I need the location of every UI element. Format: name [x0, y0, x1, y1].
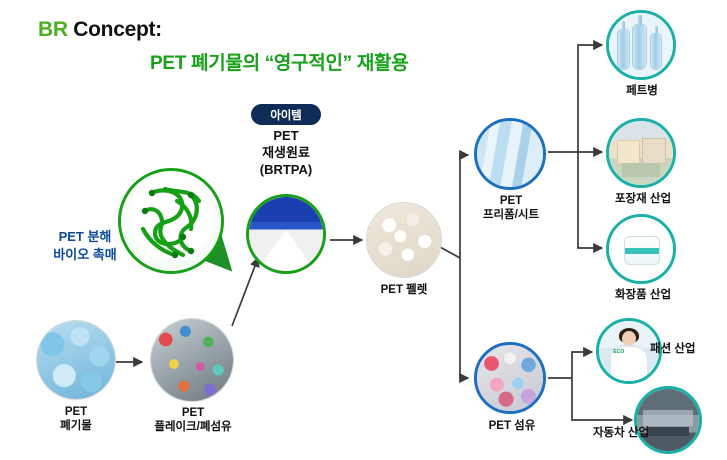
brtpa-label-line2: 재생원료 [236, 145, 336, 162]
brtpa-label-line3: (BRTPA) [236, 162, 336, 179]
pet-flake-label: PET 플레이크/폐섬유 [132, 406, 254, 435]
cosmetic-jar-icon [624, 236, 659, 265]
fashion-label: 패션 산업 [650, 342, 726, 356]
item-badge: 아이템 [251, 104, 321, 125]
brtpa-label: PET 재생원료 (BRTPA) [236, 128, 336, 179]
protein-molecule-icon [121, 171, 221, 271]
pet-preform-photo [474, 118, 546, 190]
pet-preform-label: PET 프리폼/시트 [464, 194, 558, 223]
pet-preform-label-line2: 프리폼/시트 [464, 208, 558, 222]
pet-flake-label-line1: PET [132, 406, 254, 420]
brtpa-photo [246, 194, 326, 274]
bottle-icon [651, 34, 661, 70]
automotive-label: 자동차 산업 [566, 426, 676, 440]
pet-flake-photo [150, 318, 234, 402]
packaging-label: 포장재 산업 [588, 192, 698, 206]
pet-waste-label: PET 폐기물 [26, 405, 126, 434]
pet-preform-label-line1: PET [464, 194, 558, 208]
pet-pellet-photo [366, 202, 442, 278]
pet-waste-label-line2: 폐기물 [26, 419, 126, 433]
cosmetic-photo [606, 214, 676, 284]
pet-fiber-label: PET 섬유 [470, 419, 554, 433]
pet-bottle-photo [606, 10, 676, 80]
pet-waste-label-line1: PET [26, 405, 126, 419]
brtpa-label-line1: PET [236, 128, 336, 145]
automotive-photo [634, 386, 702, 454]
bottle-icon [618, 30, 629, 70]
pet-fiber-photo [474, 342, 546, 414]
powder-pile-icon [256, 230, 315, 271]
packaging-photo [606, 118, 676, 188]
pet-waste-photo [36, 320, 116, 400]
cosmetic-label: 화장품 산업 [588, 288, 698, 302]
bottle-icon [633, 25, 646, 70]
pet-flake-label-line2: 플레이크/폐섬유 [132, 420, 254, 434]
bio-catalyst-photo [118, 168, 224, 274]
pet-pellet-label: PET 펠렛 [354, 283, 454, 297]
pet-bottle-label: 페트병 [596, 84, 688, 98]
